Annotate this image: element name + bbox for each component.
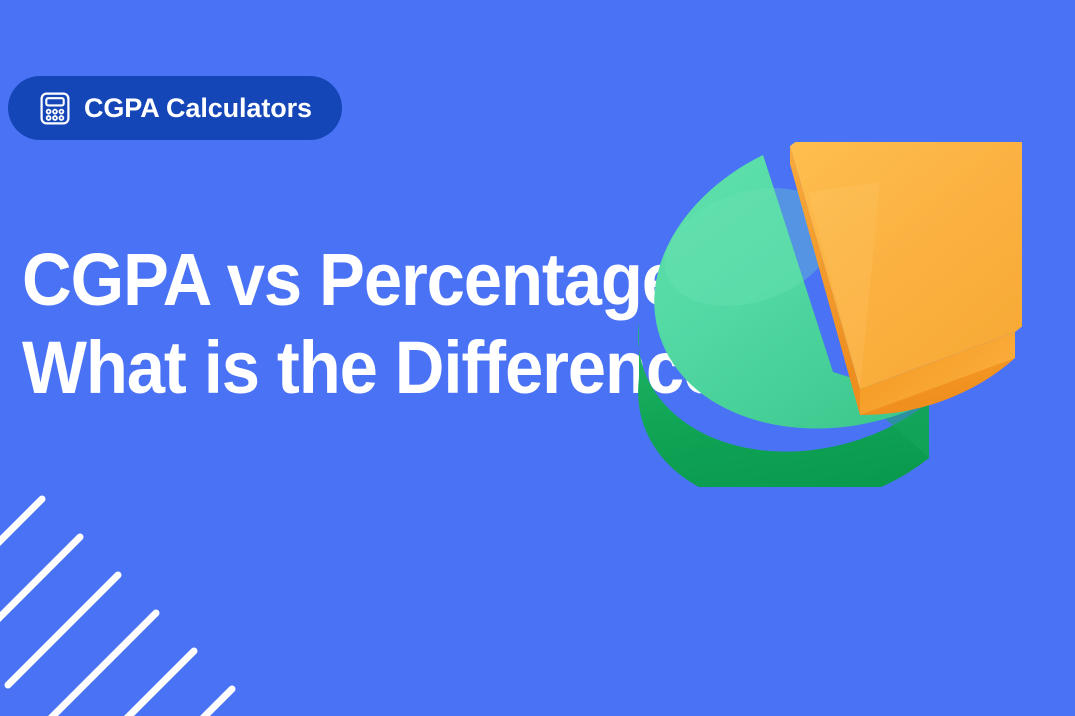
cgpa-banner: CGPA Calculators CGPA vs Percentage: Wha… (0, 0, 1075, 716)
pie-chart-illustration (630, 142, 1022, 487)
page-title-line-2: What is the Difference (22, 324, 710, 412)
calculator-icon (40, 92, 70, 125)
diagonal-stripes (0, 486, 330, 716)
page-title-line-1: CGPA vs Percentage: (22, 236, 710, 324)
cgpa-calculators-badge[interactable]: CGPA Calculators (8, 76, 342, 140)
badge-label: CGPA Calculators (84, 95, 312, 122)
